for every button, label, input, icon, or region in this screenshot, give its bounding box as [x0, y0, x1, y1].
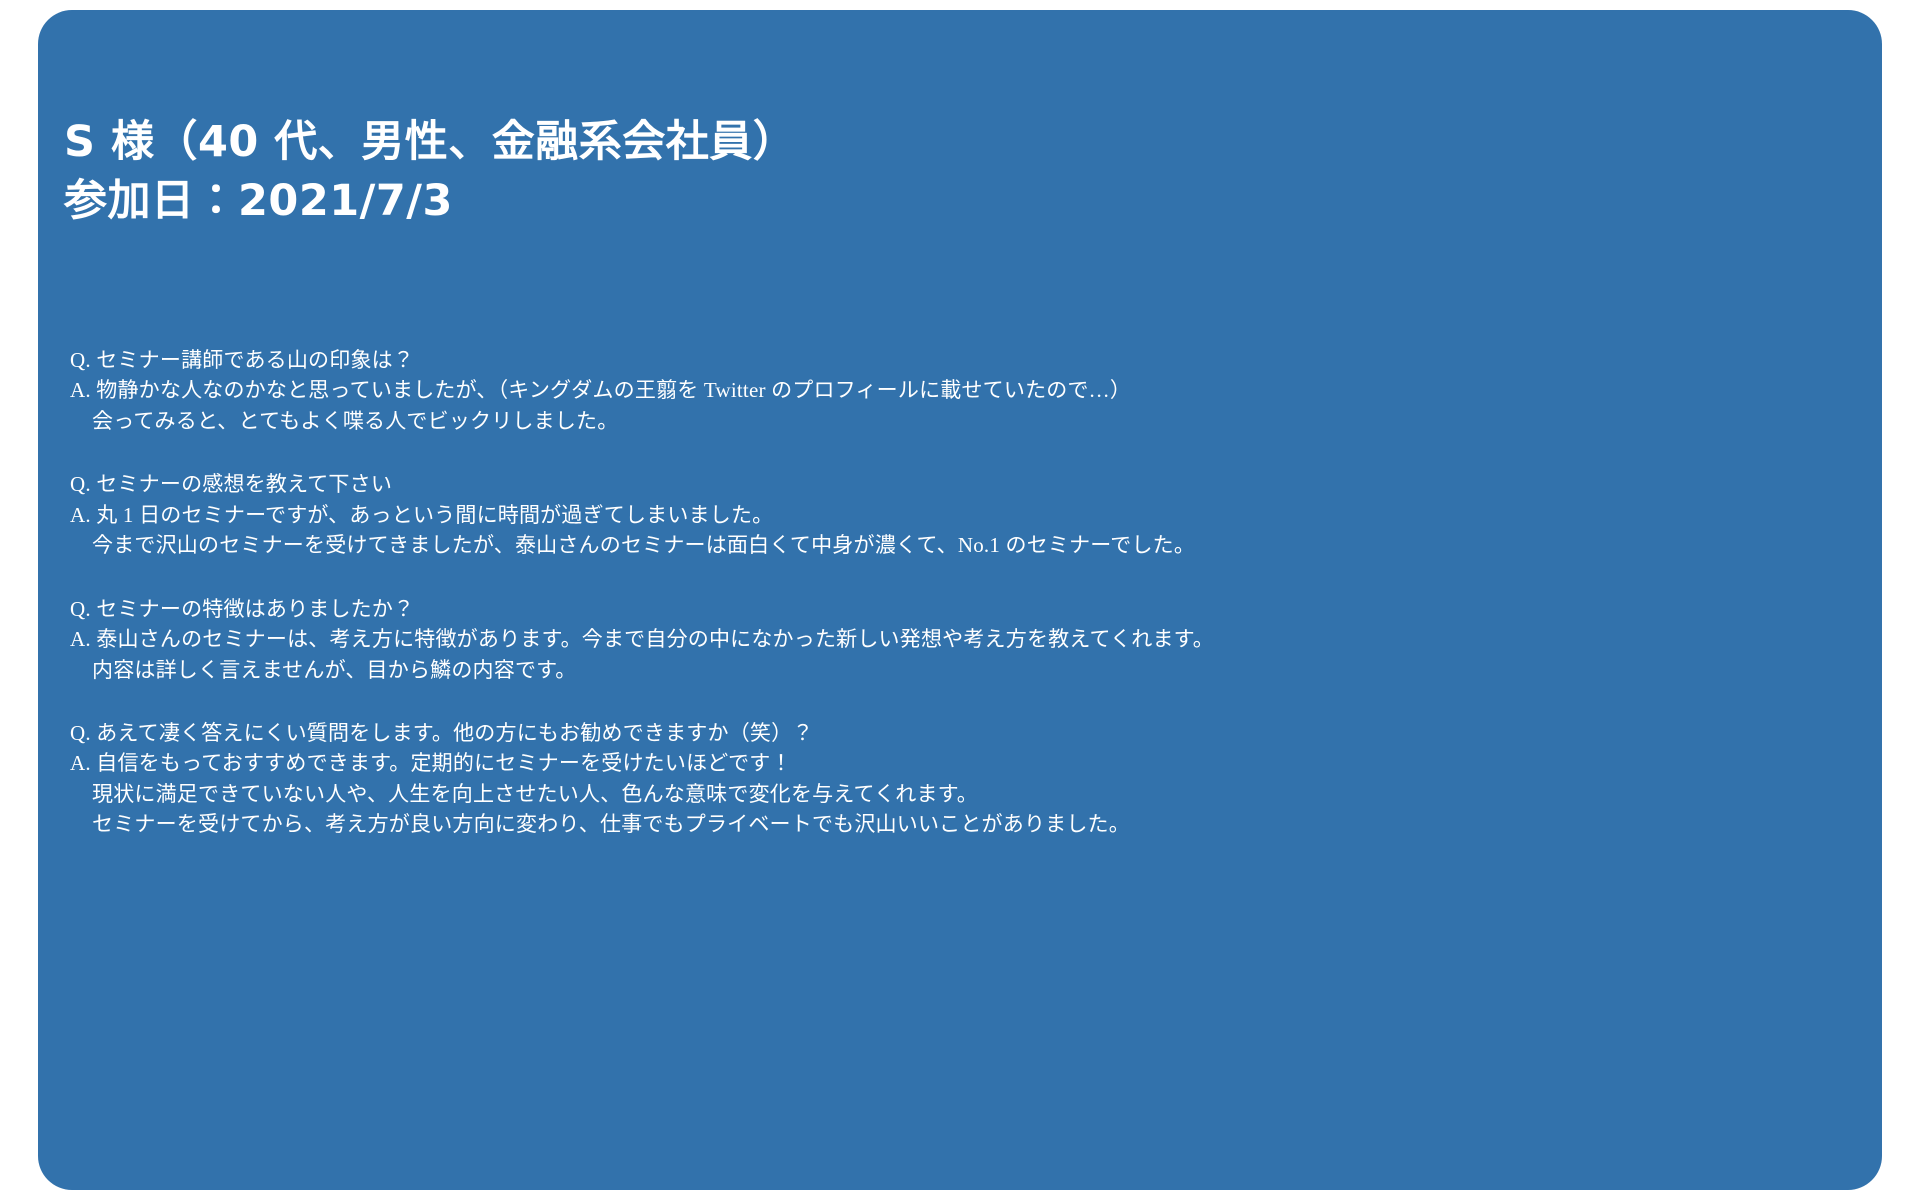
page-title: S 様（40 代、男性、金融系会社員） 参加日：2021/7/3	[64, 113, 796, 232]
qa-block: Q. セミナーの特徴はありましたか？ A. 泰山さんのセミナーは、考え方に特徴が…	[70, 594, 1842, 685]
qa-answer-line: A. 自信をもっておすすめできます。定期的にセミナーを受けたいほどです！	[70, 748, 1842, 778]
qa-question: Q. セミナーの感想を教えて下さい	[70, 469, 1842, 499]
qa-question: Q. セミナー講師である山の印象は？	[70, 345, 1842, 375]
qa-answer-line: A. 泰山さんのセミナーは、考え方に特徴があります。今まで自分の中になかった新し…	[70, 624, 1842, 654]
qa-answer-line: A. 丸 1 日のセミナーですが、あっという間に時間が過ぎてしまいました。	[70, 500, 1842, 530]
qa-question: Q. あえて凄く答えにくい質問をします。他の方にもお勧めできますか（笑）？	[70, 718, 1842, 748]
qa-list: Q. セミナー講師である山の印象は？ A. 物静かな人なのかなと思っていましたが…	[70, 345, 1842, 840]
qa-answer-line: 内容は詳しく言えませんが、目から鱗の内容です。	[70, 655, 1842, 685]
testimonial-slide: S 様（40 代、男性、金融系会社員） 参加日：2021/7/3 Q. セミナー…	[38, 10, 1882, 1190]
qa-block: Q. セミナー講師である山の印象は？ A. 物静かな人なのかなと思っていましたが…	[70, 345, 1842, 436]
qa-answer-line: 会ってみると、とてもよく喋る人でビックリしました。	[70, 406, 1842, 436]
qa-answer-line: 今まで沢山のセミナーを受けてきましたが、泰山さんのセミナーは面白くて中身が濃くて…	[70, 530, 1842, 560]
slide-content: S 様（40 代、男性、金融系会社員） 参加日：2021/7/3 Q. セミナー…	[38, 10, 1882, 1190]
qa-block: Q. セミナーの感想を教えて下さい A. 丸 1 日のセミナーですが、あっという…	[70, 469, 1842, 560]
qa-question: Q. セミナーの特徴はありましたか？	[70, 594, 1842, 624]
page-title-line-2: 参加日：2021/7/3	[64, 172, 796, 231]
qa-answer-line: セミナーを受けてから、考え方が良い方向に変わり、仕事でもプライベートでも沢山いい…	[70, 809, 1842, 839]
qa-answer-line: A. 物静かな人なのかなと思っていましたが、（キングダムの王翦を Twitter…	[70, 375, 1842, 405]
qa-answer-line: 現状に満足できていない人や、人生を向上させたい人、色んな意味で変化を与えてくれま…	[70, 779, 1842, 809]
qa-block: Q. あえて凄く答えにくい質問をします。他の方にもお勧めできますか（笑）？ A.…	[70, 718, 1842, 840]
page-title-line-1: S 様（40 代、男性、金融系会社員）	[64, 113, 796, 172]
